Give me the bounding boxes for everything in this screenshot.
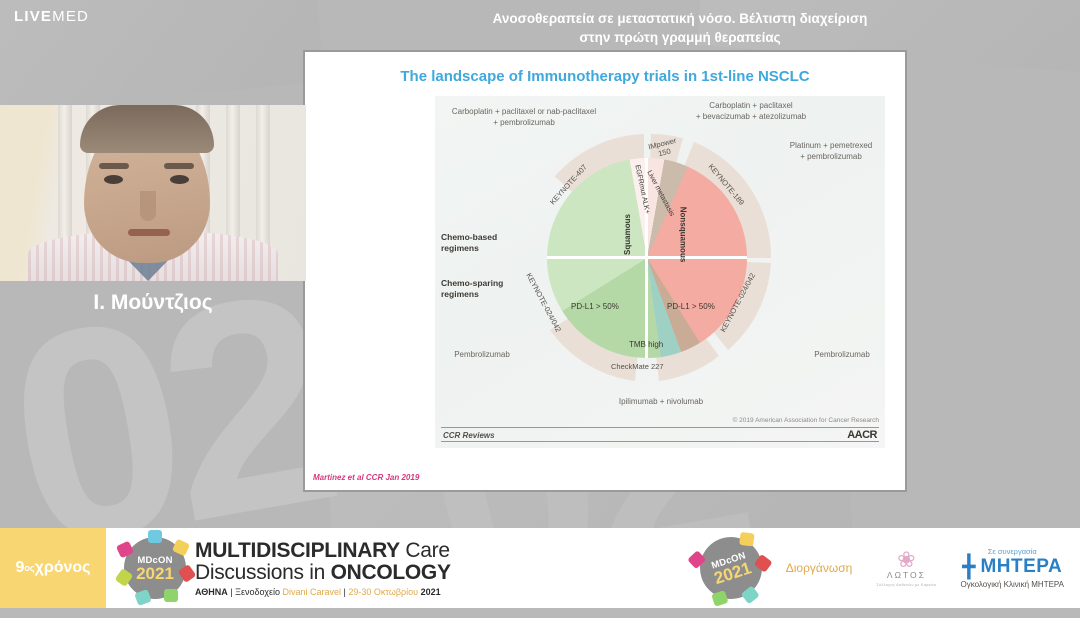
speaker-nose: [140, 191, 156, 221]
annotation-bottom-right: Pembrolizumab: [787, 349, 897, 360]
venue-city: ΑΘΗΝΑ: [195, 587, 228, 597]
speaker-name-bar: Ι. Μούντζιος: [0, 281, 306, 325]
badge-pip: [115, 568, 134, 587]
annotation-top-right: Platinum + pemetrexed + pembrolizumab: [771, 140, 891, 162]
mitera-name: ΜΗΤΕΡΑ: [980, 556, 1062, 578]
badge-label-year: 2021: [136, 566, 174, 581]
mitera-cross-icon: ╋: [962, 557, 975, 577]
pie-label-squamous: Squamous: [623, 214, 632, 255]
event-title-block: MULTIDISCIPLINARY Care Discussions in ON…: [195, 540, 451, 597]
badge-pip: [711, 590, 728, 607]
pie-label-nonsquamous: Nonsquamous: [678, 207, 687, 263]
figure-container: Carboplatin + paclitaxel or nab-paclitax…: [435, 96, 885, 448]
speaker-eyebrow: [99, 163, 129, 169]
slide-content: The landscape of Immunotherapy trials in…: [305, 52, 905, 490]
annotation-bottom-left: Pembrolizumab: [427, 349, 537, 360]
speaker-eyebrow: [164, 163, 194, 169]
event-venue-line: ΑΘΗΝΑ | Ξενοδοχείο Divani Caravel | 29-3…: [195, 588, 451, 597]
anniversary-word: χρόνος: [35, 559, 91, 577]
speaker-video-frame[interactable]: [0, 105, 306, 281]
annotation-top-center: Carboplatin + paclitaxel + bevacizumab +…: [671, 100, 831, 122]
anniversary-number: 9: [16, 559, 25, 577]
venue-hotel-name: Divani Caravel: [283, 587, 342, 597]
session-title-line1: Ανοσοθεραπεία σε μεταστατική νόσο. Βέλτι…: [330, 9, 1030, 28]
event-title-line2: Discussions in ONCOLOGY: [195, 562, 451, 583]
venue-dates: 29-30 Οκτωβρίου: [348, 587, 418, 597]
badge-pip: [753, 554, 772, 573]
pie-label-pdl1-right: PD-L1 > 50%: [667, 302, 715, 311]
lotos-name: ΛΩΤΟΣ: [876, 570, 936, 580]
badge-pip: [134, 589, 152, 606]
event-title-line1: MULTIDISCIPLINARY Care: [195, 540, 451, 561]
event-title-word-discussions: Discussions in: [195, 561, 331, 584]
badge-pip: [148, 530, 162, 543]
badge-pip: [740, 585, 759, 604]
badge-pip: [164, 589, 178, 602]
speaker-video-feed[interactable]: [0, 105, 306, 281]
speaker-mouth: [128, 229, 170, 236]
footer-main: MDcON 2021 MULTIDISCIPLINARY Care Discus…: [106, 528, 451, 608]
slide-title: The landscape of Immunotherapy trials in…: [305, 68, 905, 85]
anniversary-badge: 9ος χρόνος: [0, 528, 106, 608]
pie-label-pdl1-left: PD-L1 > 50%: [571, 302, 619, 311]
footer-banner: 9ος χρόνος MDcON 2021 MULTIDISCIPLINARY …: [0, 528, 1080, 608]
event-title-word-oncology: ONCOLOGY: [331, 561, 451, 584]
badge-pip: [687, 550, 706, 569]
speaker-eye: [170, 175, 189, 184]
row-label-chemo-sparing: Chemo-sparing regimens: [441, 278, 503, 300]
badge-pip: [739, 532, 754, 547]
event-title-word-multidisciplinary: MULTIDISCIPLINARY: [195, 539, 400, 562]
cooperation-label: Σε συνεργασία: [960, 547, 1064, 556]
slide-citation: Martinez et al CCR Jan 2019: [313, 473, 419, 482]
livemed-logo: LIVEMED: [14, 8, 89, 25]
event-title-word-care: Care: [400, 539, 450, 562]
annotation-bottom-center: Ipilimumab + nivolumab: [581, 396, 741, 407]
speaker-eye: [104, 175, 123, 184]
donut-chart: Squamous Nonsquamous PD-L1 > 50% PD-L1 >…: [523, 134, 771, 382]
badge-pip: [116, 541, 134, 559]
mdcon-badge-primary: MDcON 2021: [124, 537, 186, 599]
slide-panel[interactable]: The landscape of Immunotherapy trials in…: [303, 50, 907, 492]
mitera-logo-row: ╋ ΜΗΤΕΡΑ: [960, 556, 1064, 578]
organizer-label: Διοργάνωση: [786, 561, 853, 575]
badge-pip: [178, 564, 197, 583]
venue-sep1: |: [228, 587, 235, 597]
mdcon-badge-secondary: MDcON 2021: [692, 529, 770, 607]
logo-text-light: MED: [52, 8, 89, 25]
row-label-chemo-based: Chemo-based regimens: [441, 232, 497, 254]
pie-label-tmb-high: TMB high: [629, 340, 663, 349]
figure-rule-bottom: [441, 441, 879, 442]
lotus-flower-icon: ❀: [876, 550, 936, 570]
venue-year: 2021: [418, 587, 441, 597]
badge-pip: [172, 539, 190, 557]
top-header-bar: LIVEMED Ανοσοθεραπεία σε μεταστατική νόσ…: [0, 0, 1080, 52]
speaker-hair: [80, 105, 214, 153]
venue-hotel-prefix: Ξενοδοχείο: [235, 587, 282, 597]
logo-text-bold: LIVE: [14, 8, 52, 25]
figure-copyright: © 2019 American Association for Cancer R…: [733, 417, 879, 424]
lotos-subtitle: Σύλλογος Ασθενών με Καρκίνο: [876, 582, 936, 587]
ring-label-checkmate227: CheckMate 227: [611, 362, 664, 371]
lotos-sponsor-logo: ❀ ΛΩΤΟΣ Σύλλογος Ασθενών με Καρκίνο: [876, 550, 936, 587]
footer-sponsors: MDcON 2021 Διοργάνωση ❀ ΛΩΤΟΣ Σύλλογος Α…: [451, 528, 1080, 608]
speaker-name: Ι. Μούντζιος: [93, 291, 212, 315]
figure-rule-top: [441, 427, 879, 428]
annotation-top-left: Carboplatin + paclitaxel or nab-paclitax…: [429, 106, 619, 128]
anniversary-suffix: ος: [24, 563, 34, 573]
journal-name: CCR Reviews: [443, 431, 495, 440]
publisher-logo: AACR: [847, 429, 877, 441]
session-title: Ανοσοθεραπεία σε μεταστατική νόσο. Βέλτι…: [330, 9, 1030, 47]
mitera-tagline: Ογκολογική Κλινική ΜΗΤΕΡΑ: [960, 580, 1064, 589]
session-title-line2: στην πρώτη γραμμή θεραπείας: [330, 28, 1030, 47]
mitera-sponsor-logo: Σε συνεργασία ╋ ΜΗΤΕΡΑ Ογκολογική Κλινικ…: [960, 547, 1064, 589]
